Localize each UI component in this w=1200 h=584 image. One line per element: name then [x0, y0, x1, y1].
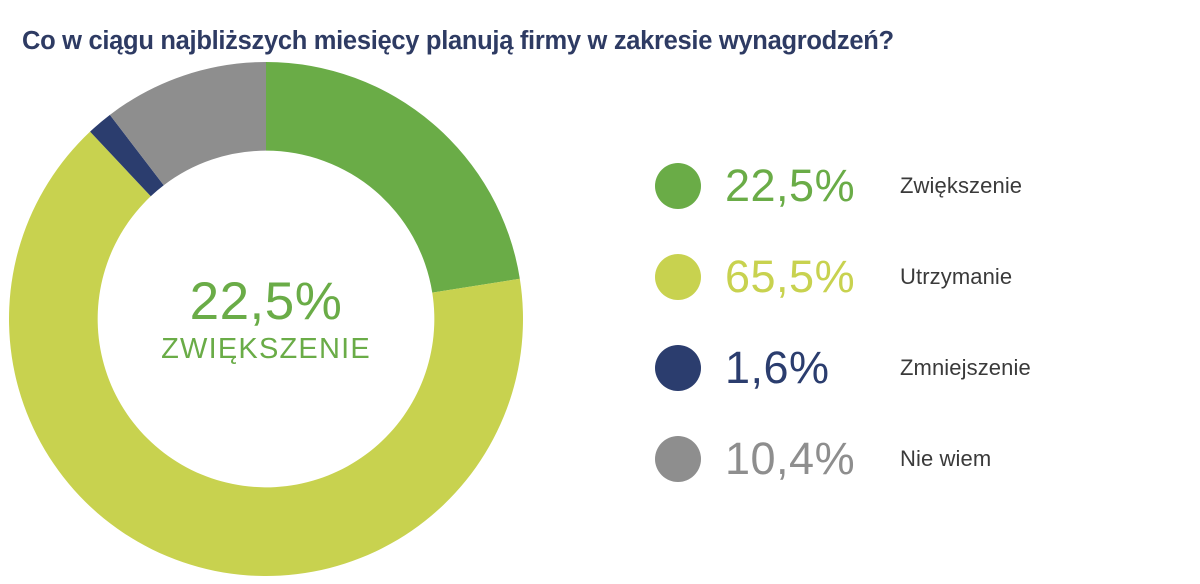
legend-color-dot-icon [655, 436, 701, 482]
legend-item[interactable]: 1,6%Zmniejszenie [655, 322, 1175, 413]
legend-color-dot-icon [655, 163, 701, 209]
page-title: Co w ciągu najbliższych miesięcy planują… [22, 26, 1192, 57]
legend-item[interactable]: 10,4%Nie wiem [655, 413, 1175, 504]
donut-slice-group [9, 62, 523, 576]
donut-svg [9, 62, 523, 576]
legend-value: 10,4% [725, 436, 900, 481]
legend-label: Zmniejszenie [900, 357, 1031, 379]
legend-value: 1,6% [725, 345, 900, 390]
legend-color-dot-icon [655, 345, 701, 391]
legend-color-dot-icon [655, 254, 701, 300]
legend-label: Utrzymanie [900, 266, 1012, 288]
legend-label: Zwiększenie [900, 175, 1022, 197]
legend-value: 22,5% [725, 163, 900, 208]
legend-value: 65,5% [725, 254, 900, 299]
chart-page: Co w ciągu najbliższych miesięcy planują… [0, 0, 1200, 584]
legend-item[interactable]: 65,5%Utrzymanie [655, 231, 1175, 322]
donut-chart: 22,5% ZWIĘKSZENIE [9, 62, 523, 576]
donut-slice [266, 62, 520, 293]
legend-label: Nie wiem [900, 448, 991, 470]
legend-item[interactable]: 22,5%Zwiększenie [655, 140, 1175, 231]
legend: 22,5%Zwiększenie65,5%Utrzymanie1,6%Zmnie… [655, 140, 1175, 504]
